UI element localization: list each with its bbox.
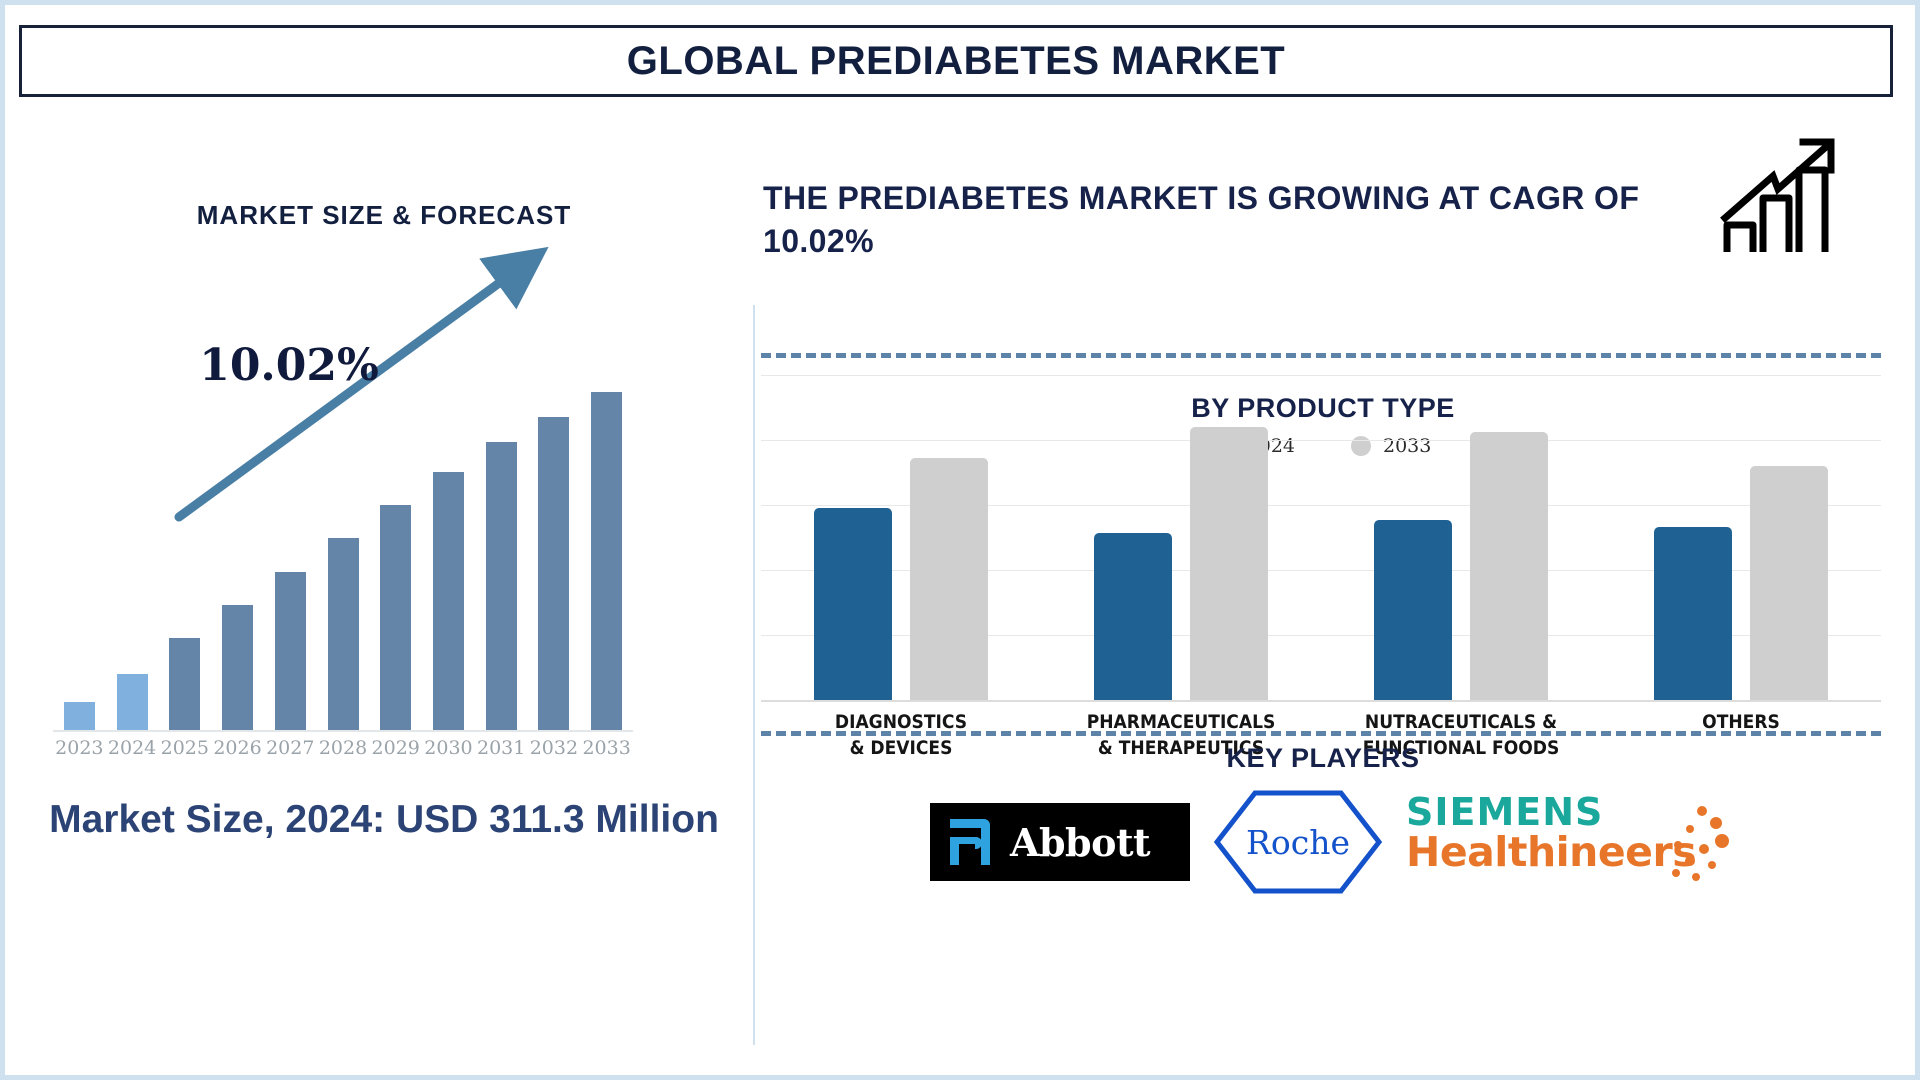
divider-bottom — [761, 731, 1881, 736]
product-bar-2024-2 — [1374, 520, 1452, 700]
product-bar-2033-0 — [910, 458, 988, 700]
forecast-bar-2032 — [538, 417, 569, 730]
product-bar-2024-0 — [814, 508, 892, 700]
key-players-title: KEY PLAYERS — [753, 743, 1893, 774]
key-players-logos: Abbott Roche SIEMENS Healthineers — [753, 787, 1893, 897]
market-size-forecast-heading: MARKET SIZE & FORECAST — [19, 200, 749, 231]
forecast-year-label-2025: 2025 — [159, 737, 211, 759]
forecast-bar-2033 — [591, 392, 622, 730]
market-size-forecast-chart — [53, 385, 633, 730]
left-chart-baseline — [53, 730, 633, 732]
left-chart-year-axis: 2023202420252026202720282029203020312032… — [53, 737, 633, 767]
forecast-bar-2026 — [222, 605, 253, 730]
product-bar-2033-1 — [1190, 427, 1268, 700]
product-bar-2033-3 — [1750, 466, 1828, 700]
cagr-statement: THE PREDIABETES MARKET IS GROWING AT CAG… — [763, 177, 1663, 263]
logo-roche: Roche — [1212, 788, 1384, 896]
forecast-year-label-2026: 2026 — [212, 737, 264, 759]
forecast-bar-2031 — [486, 442, 517, 730]
forecast-year-label-2028: 2028 — [317, 737, 369, 759]
forecast-year-label-2031: 2031 — [475, 737, 527, 759]
forecast-year-label-2033: 2033 — [581, 737, 633, 759]
growth-bar-chart-arrow-icon — [1717, 130, 1849, 260]
forecast-bar-2027 — [275, 572, 306, 730]
product-bar-2033-2 — [1470, 432, 1548, 700]
cagr-value-large: 10.02% — [159, 340, 419, 391]
forecast-bar-2028 — [328, 538, 359, 730]
product-bar-2024-3 — [1654, 527, 1732, 700]
forecast-year-label-2030: 2030 — [422, 737, 474, 759]
divider-top — [761, 353, 1881, 358]
product-chart-baseline — [761, 700, 1881, 702]
forecast-bar-2023 — [64, 702, 95, 730]
roche-wordmark: Roche — [1246, 823, 1350, 862]
bar-group-3 — [1654, 375, 1828, 700]
forecast-year-label-2023: 2023 — [53, 737, 105, 759]
forecast-bar-2025 — [169, 638, 200, 730]
logo-siemens-healthineers: SIEMENS Healthineers — [1406, 793, 1716, 891]
by-product-type-chart — [761, 375, 1881, 700]
page-title-box: GLOBAL PREDIABETES MARKET — [19, 25, 1893, 97]
abbott-a-logo-icon — [944, 813, 996, 871]
forecast-year-label-2024: 2024 — [106, 737, 158, 759]
bar-group-1 — [1094, 375, 1268, 700]
forecast-bar-2029 — [380, 505, 411, 730]
siemens-healthineers-dots-icon — [1656, 803, 1730, 885]
forecast-year-label-2029: 2029 — [370, 737, 422, 759]
forecast-bar-2024 — [117, 674, 148, 730]
market-size-2024-label: Market Size, 2024: USD 311.3 Million — [29, 795, 739, 845]
abbott-wordmark: Abbott — [1010, 820, 1150, 865]
logo-abbott: Abbott — [930, 803, 1190, 881]
forecast-year-label-2027: 2027 — [264, 737, 316, 759]
bar-group-2 — [1374, 375, 1548, 700]
page-title: GLOBAL PREDIABETES MARKET — [627, 39, 1285, 84]
product-bar-2024-1 — [1094, 533, 1172, 700]
forecast-bar-2030 — [433, 472, 464, 730]
infographic-page: GLOBAL PREDIABETES MARKET MARKET SIZE & … — [0, 0, 1920, 1080]
market-size-forecast-panel: MARKET SIZE & FORECAST 10.02% 2023202420… — [19, 115, 749, 1045]
forecast-year-label-2032: 2032 — [528, 737, 580, 759]
bar-group-0 — [814, 375, 988, 700]
product-type-panel: THE PREDIABETES MARKET IS GROWING AT CAG… — [753, 115, 1893, 1045]
